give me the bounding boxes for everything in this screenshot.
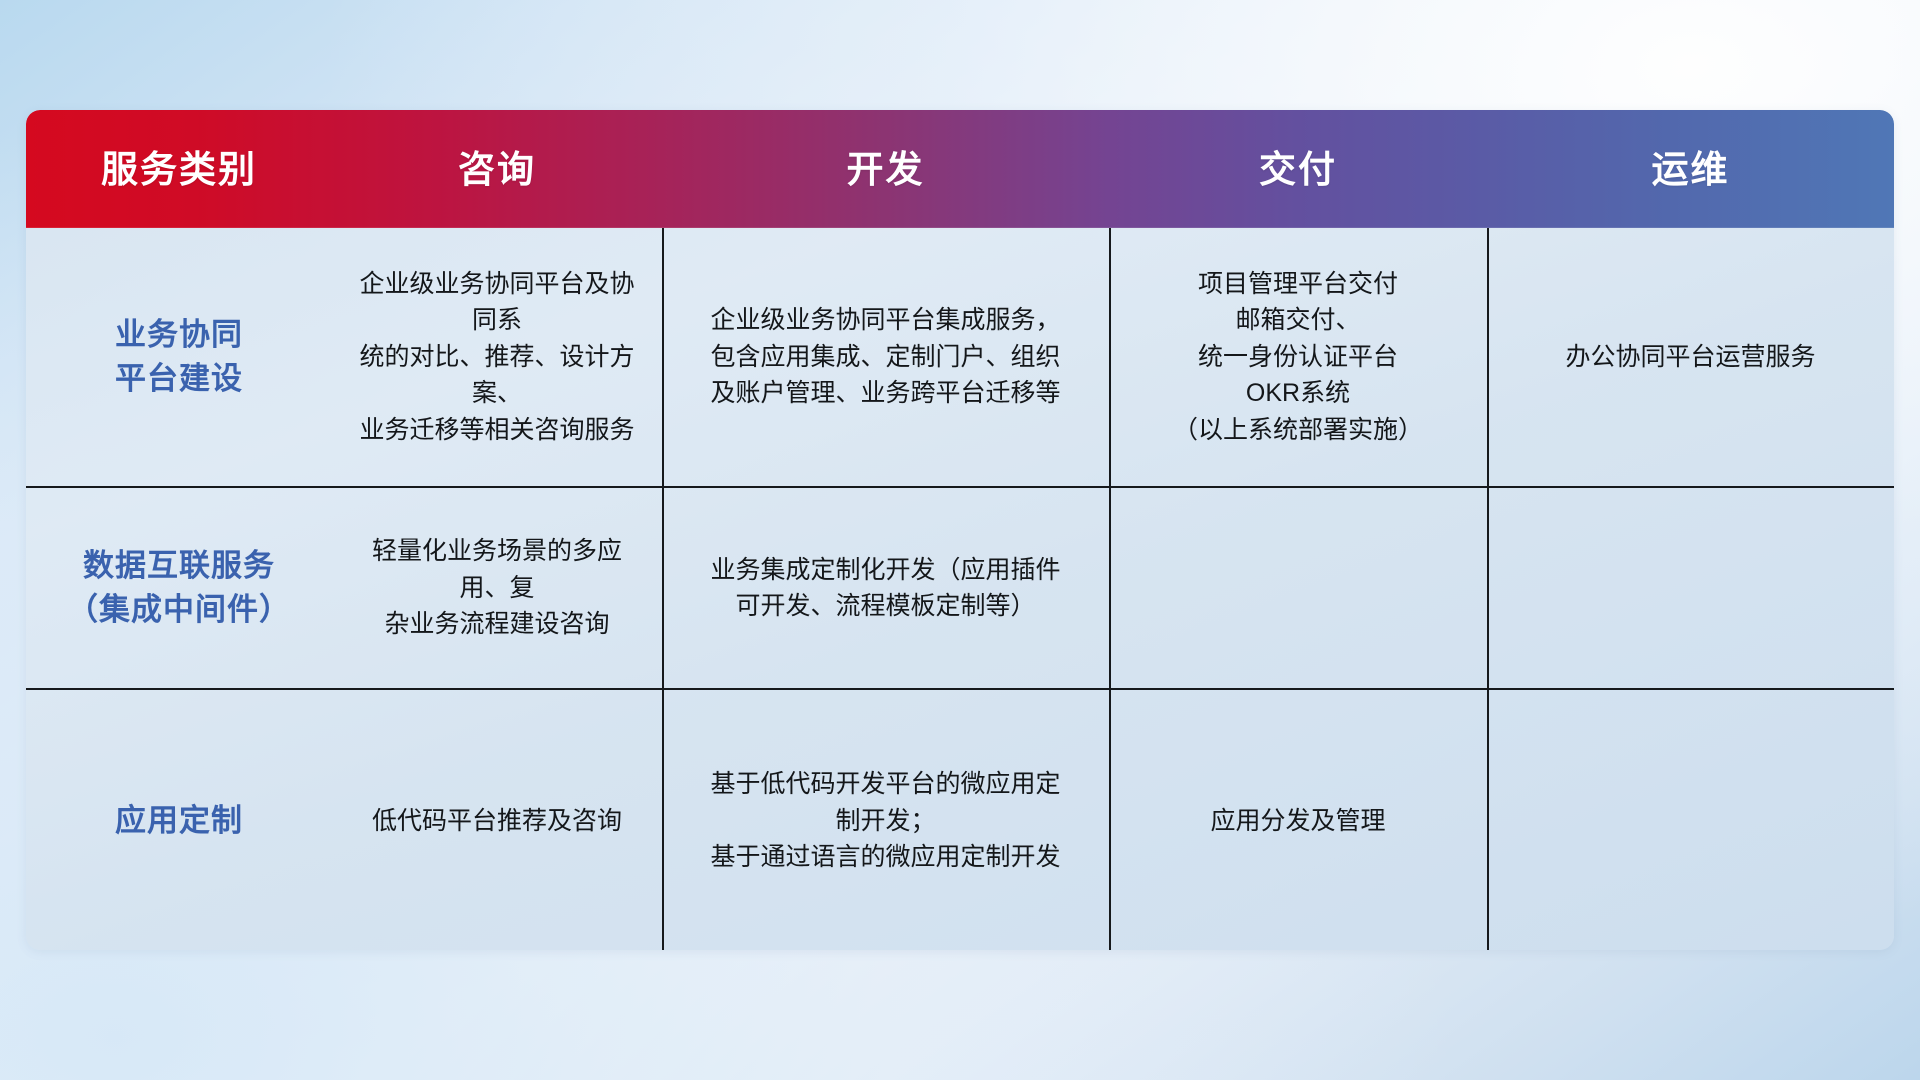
table-card: 服务类别 咨询 开发 交付 运维 业务协同 平台建设 企业级业务协同平台及协同系…	[26, 110, 1894, 950]
cell-delivery	[1109, 488, 1487, 688]
cell-development: 业务集成定制化开发（应用插件 可开发、流程模板定制等）	[662, 488, 1109, 688]
table-row: 数据互联服务 （集成中间件） 轻量化业务场景的多应用、复 杂业务流程建设咨询 业…	[26, 488, 1894, 690]
column-header-category: 服务类别	[26, 110, 332, 228]
cell-operations	[1487, 690, 1894, 950]
cell-development: 企业级业务协同平台集成服务， 包含应用集成、定制门户、组织 及账户管理、业务跨平…	[662, 228, 1109, 486]
row-category-label: 数据互联服务 （集成中间件）	[26, 488, 332, 688]
table-row: 应用定制 低代码平台推荐及咨询 基于低代码开发平台的微应用定 制开发； 基于通过…	[26, 690, 1894, 950]
column-header-consulting: 咨询	[332, 110, 662, 228]
table-body: 业务协同 平台建设 企业级业务协同平台及协同系 统的对比、推荐、设计方案、 业务…	[26, 228, 1894, 950]
column-header-development: 开发	[662, 110, 1109, 228]
table-row: 业务协同 平台建设 企业级业务协同平台及协同系 统的对比、推荐、设计方案、 业务…	[26, 228, 1894, 488]
service-category-table: 服务类别 咨询 开发 交付 运维 业务协同 平台建设 企业级业务协同平台及协同系…	[26, 110, 1894, 950]
cell-delivery: 项目管理平台交付 邮箱交付、 统一身份认证平台 OKR系统 （以上系统部署实施）	[1109, 228, 1487, 486]
cell-operations: 办公协同平台运营服务	[1487, 228, 1894, 486]
table-header-row: 服务类别 咨询 开发 交付 运维	[26, 110, 1894, 228]
cell-operations	[1487, 488, 1894, 688]
column-header-delivery: 交付	[1109, 110, 1487, 228]
cell-development: 基于低代码开发平台的微应用定 制开发； 基于通过语言的微应用定制开发	[662, 690, 1109, 950]
cell-consulting: 轻量化业务场景的多应用、复 杂业务流程建设咨询	[332, 488, 662, 688]
cell-delivery: 应用分发及管理	[1109, 690, 1487, 950]
cell-consulting: 企业级业务协同平台及协同系 统的对比、推荐、设计方案、 业务迁移等相关咨询服务	[332, 228, 662, 486]
row-category-label: 业务协同 平台建设	[26, 228, 332, 486]
row-category-label: 应用定制	[26, 690, 332, 950]
cell-consulting: 低代码平台推荐及咨询	[332, 690, 662, 950]
column-header-operations: 运维	[1487, 110, 1894, 228]
